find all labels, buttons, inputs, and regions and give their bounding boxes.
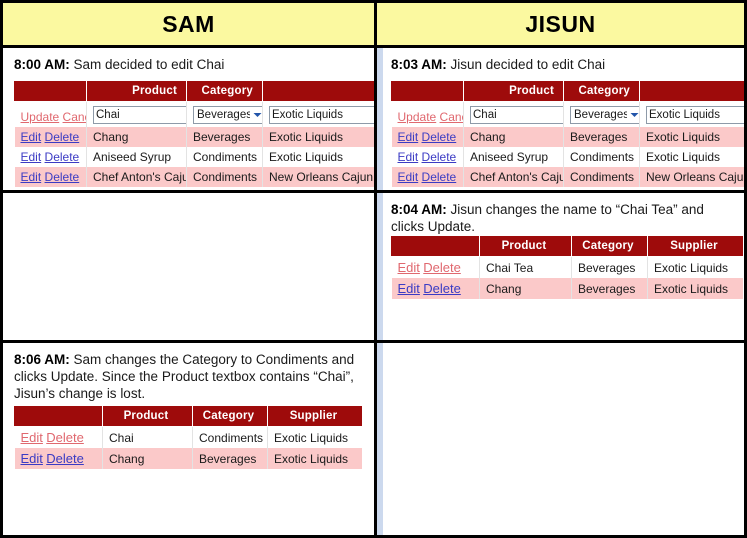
- row-commands: Edit Delete: [392, 278, 480, 299]
- table-row: Edit Delete Chang Beverages Exotic Liqui…: [15, 448, 363, 469]
- supplier-textbox[interactable]: [269, 106, 377, 124]
- product-cell: Chai: [103, 427, 193, 449]
- category-cell: Condiments: [564, 147, 640, 167]
- category-cell: Beverages: [187, 127, 263, 147]
- banner-title-jisun: JISUN: [525, 11, 595, 38]
- category-dropdown[interactable]: Beverages: [193, 106, 263, 124]
- row-commands: Edit Delete: [392, 167, 464, 187]
- products-table: Product Category Supplier Edit Delete Ch…: [391, 235, 743, 299]
- column-header-command: [392, 236, 480, 257]
- delete-link[interactable]: Delete: [423, 281, 461, 296]
- table-row: Edit Delete Chang Beverages Exotic Liqui…: [392, 278, 744, 299]
- panel-banner-sam: SAM: [3, 3, 377, 48]
- table-row: Edit Delete Chai Condiments Exotic Liqui…: [15, 427, 363, 449]
- column-header-product: Product: [87, 81, 187, 102]
- panel-sam-edit: 8:00 AM: Sam decided to edit Chai Produc…: [3, 48, 377, 193]
- caption-time: 8:00 AM:: [14, 57, 70, 72]
- product-cell: Chang: [103, 448, 193, 469]
- table-row: Edit Delete Chang Beverages Exotic Liqui…: [15, 127, 378, 147]
- category-cell: Beverages: [572, 257, 648, 279]
- product-cell: Chang: [464, 127, 564, 147]
- panel-jisun-update: 8:04 AM: Jisun changes the name to “Chai…: [377, 193, 744, 343]
- column-header-command: [15, 406, 103, 427]
- supplier-cell: Exotic Liquids: [648, 257, 744, 279]
- edit-link[interactable]: Edit: [398, 260, 420, 275]
- delete-link[interactable]: Delete: [46, 430, 84, 445]
- product-cell: Chef Anton's Cajun: [87, 167, 187, 187]
- supplier-cell: Exotic Liquids: [268, 448, 363, 469]
- chevron-down-icon: [250, 108, 263, 122]
- product-cell: Chang: [87, 127, 187, 147]
- delete-link[interactable]: Delete: [422, 130, 457, 144]
- table-row: Edit Delete Aniseed Syrup Condiments Exo…: [15, 147, 378, 167]
- panel-jisun-edit: 8:03 AM: Jisun decided to edit Chai Prod…: [377, 48, 744, 193]
- panel-gutter: [377, 48, 383, 190]
- category-cell: Condiments: [187, 167, 263, 187]
- delete-link[interactable]: Delete: [45, 130, 80, 144]
- cancel-link[interactable]: Cancel: [440, 110, 464, 124]
- table-row: Edit Delete Chef Anton's Cajun Condiment…: [15, 167, 378, 187]
- delete-link[interactable]: Delete: [46, 451, 84, 466]
- edit-link[interactable]: Edit: [21, 170, 42, 184]
- row-commands: Edit Delete: [15, 167, 87, 187]
- column-header-supplier: Supplier: [640, 81, 745, 102]
- edit-link[interactable]: Edit: [21, 150, 42, 164]
- edit-link[interactable]: Edit: [21, 130, 42, 144]
- column-header-product: Product: [103, 406, 193, 427]
- gridview-jisun-edit: Product Category Supplier Update Cancel: [391, 80, 744, 187]
- supplier-cell: Exotic Liquids: [268, 427, 363, 449]
- caption-text: Jisun decided to edit Chai: [447, 57, 605, 72]
- supplier-cell: Exotic Liquids: [263, 147, 378, 167]
- comic-strip-screenshot: SAM JISUN 8:00 AM: Sam decided to edit C…: [0, 0, 747, 538]
- update-link[interactable]: Update: [21, 110, 60, 124]
- column-header-category: Category: [187, 81, 263, 102]
- category-cell: Condiments: [564, 167, 640, 187]
- table-row: Edit Delete Chef Anton's Cajun Condiment…: [392, 167, 745, 187]
- edit-link[interactable]: Edit: [398, 150, 419, 164]
- supplier-cell-edit: [263, 102, 378, 128]
- gridview-jisun-update: Product Category Supplier Edit Delete Ch…: [391, 235, 743, 299]
- row-commands: Edit Delete: [392, 257, 480, 279]
- chevron-down-icon: [627, 108, 640, 122]
- products-table: Product Category Supplier Update Cancel: [391, 80, 744, 187]
- edit-link[interactable]: Edit: [398, 170, 419, 184]
- product-cell-edit: [87, 102, 187, 128]
- gridview-sam-edit: Product Category Supplier Update Cancel: [14, 80, 377, 187]
- caption-time: 8:03 AM:: [391, 57, 447, 72]
- table-row: Edit Delete Chang Beverages Exotic Liqui…: [392, 127, 745, 147]
- column-header-supplier: Supplier: [648, 236, 744, 257]
- panel-grid: SAM JISUN 8:00 AM: Sam decided to edit C…: [0, 0, 747, 538]
- row-commands: Edit Delete: [392, 147, 464, 167]
- panel-empty-right: [377, 343, 744, 535]
- supplier-cell: New Orleans Cajun Delights: [263, 167, 378, 187]
- products-table: Product Category Supplier Update Cancel: [14, 80, 377, 187]
- product-textbox[interactable]: [93, 106, 187, 124]
- caption-sam-update: 8:06 AM: Sam changes the Category to Con…: [14, 351, 366, 402]
- product-cell: Chang: [480, 278, 572, 299]
- row-commands: Edit Delete: [15, 127, 87, 147]
- panel-gutter: [377, 193, 383, 340]
- row-commands: Update Cancel: [15, 102, 87, 128]
- panel-gutter: [377, 343, 383, 535]
- table-header-row: Product Category Supplier: [15, 81, 378, 102]
- supplier-cell: New Orleans Cajun Delights: [640, 167, 745, 187]
- supplier-cell: Exotic Liquids: [640, 147, 745, 167]
- column-header-product: Product: [480, 236, 572, 257]
- column-header-category: Category: [564, 81, 640, 102]
- row-commands: Edit Delete: [15, 427, 103, 449]
- supplier-cell: Exotic Liquids: [640, 127, 745, 147]
- supplier-cell: Exotic Liquids: [648, 278, 744, 299]
- delete-link[interactable]: Delete: [45, 150, 80, 164]
- category-dropdown[interactable]: Beverages: [570, 106, 640, 124]
- category-cell: Beverages: [193, 448, 268, 469]
- caption-text: Sam decided to edit Chai: [70, 57, 225, 72]
- row-commands: Edit Delete: [15, 448, 103, 469]
- category-cell: Condiments: [193, 427, 268, 449]
- column-header-category: Category: [193, 406, 268, 427]
- product-cell: Aniseed Syrup: [464, 147, 564, 167]
- caption-jisun-update: 8:04 AM: Jisun changes the name to “Chai…: [391, 201, 736, 235]
- table-row-edit: Update Cancel Beverages: [392, 102, 745, 128]
- table-row: Edit Delete Aniseed Syrup Condiments Exo…: [392, 147, 745, 167]
- table-header-row: Product Category Supplier: [15, 406, 363, 427]
- column-header-product: Product: [464, 81, 564, 102]
- caption-jisun-edit: 8:03 AM: Jisun decided to edit Chai: [391, 56, 736, 73]
- row-commands: Edit Delete: [392, 127, 464, 147]
- table-row: Edit Delete Chai Tea Beverages Exotic Li…: [392, 257, 744, 279]
- edit-link[interactable]: Edit: [21, 430, 43, 445]
- column-header-supplier: Supplier: [263, 81, 378, 102]
- caption-time: 8:04 AM:: [391, 202, 447, 217]
- column-header-supplier: Supplier: [268, 406, 363, 427]
- row-commands: Update Cancel: [392, 102, 464, 128]
- cancel-link[interactable]: Cancel: [63, 110, 87, 124]
- column-header-category: Category: [572, 236, 648, 257]
- panel-sam-update: 8:06 AM: Sam changes the Category to Con…: [3, 343, 377, 535]
- delete-link[interactable]: Delete: [422, 150, 457, 164]
- panel-banner-jisun: JISUN: [377, 3, 744, 48]
- panel-empty-left: [3, 193, 377, 343]
- table-header-row: Product Category Supplier: [392, 81, 745, 102]
- edit-link[interactable]: Edit: [21, 451, 43, 466]
- edit-link[interactable]: Edit: [398, 281, 420, 296]
- column-header-command: [15, 81, 87, 102]
- update-link[interactable]: Update: [398, 110, 437, 124]
- edit-link[interactable]: Edit: [398, 130, 419, 144]
- table-row-edit: Update Cancel Beverages: [15, 102, 378, 128]
- category-cell: Beverages: [564, 127, 640, 147]
- caption-time: 8:06 AM:: [14, 352, 70, 367]
- product-textbox[interactable]: [470, 106, 564, 124]
- table-header-row: Product Category Supplier: [392, 236, 744, 257]
- products-table: Product Category Supplier Edit Delete Ch…: [14, 405, 362, 469]
- product-cell: Chef Anton's Cajun: [464, 167, 564, 187]
- supplier-textbox[interactable]: [646, 106, 744, 124]
- delete-link[interactable]: Delete: [422, 170, 457, 184]
- gridview-sam-update: Product Category Supplier Edit Delete Ch…: [14, 405, 362, 469]
- category-cell: Beverages: [572, 278, 648, 299]
- column-header-command: [392, 81, 464, 102]
- supplier-cell: Exotic Liquids: [263, 127, 378, 147]
- product-cell: Chai Tea: [480, 257, 572, 279]
- product-cell: Aniseed Syrup: [87, 147, 187, 167]
- banner-title-sam: SAM: [162, 11, 215, 38]
- delete-link[interactable]: Delete: [423, 260, 461, 275]
- delete-link[interactable]: Delete: [45, 170, 80, 184]
- category-cell-edit: Beverages: [187, 102, 263, 128]
- row-commands: Edit Delete: [15, 147, 87, 167]
- caption-sam-edit: 8:00 AM: Sam decided to edit Chai: [14, 56, 366, 73]
- product-cell-edit: [464, 102, 564, 128]
- supplier-cell-edit: [640, 102, 745, 128]
- category-cell-edit: Beverages: [564, 102, 640, 128]
- category-cell: Condiments: [187, 147, 263, 167]
